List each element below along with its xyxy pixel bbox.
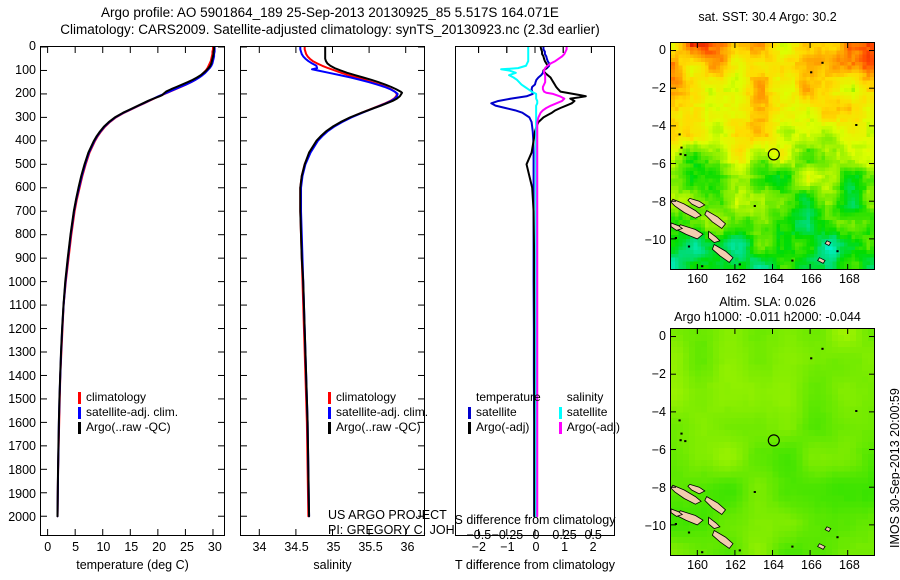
axis-tick-label: 500 (0, 157, 36, 171)
axis-tick-label: 100 (0, 63, 36, 77)
sst-map (671, 43, 874, 269)
map-axis-tick-label: −8 (636, 481, 666, 495)
legend-color-swatch (468, 422, 471, 434)
legend-header-label: salinity (567, 390, 604, 405)
legend-column-header: temperature (468, 390, 541, 405)
legend-item: satellite (468, 405, 541, 420)
imos-timestamp: IMOS 30-Sep-2013 20:00:59 (888, 388, 900, 548)
legend-color-swatch (78, 422, 81, 434)
title-line-2: Climatology: CARS2009. Satellite-adjuste… (0, 21, 660, 38)
legend-spacer (559, 392, 562, 404)
legend-item: Argo(..raw -QC) (78, 420, 178, 435)
axis-tick-label: 1200 (0, 322, 36, 336)
map-axis-tick-label: −4 (636, 405, 666, 419)
axis-tick-label: 2 (568, 540, 618, 554)
map-axis-tick-label: −2 (636, 367, 666, 381)
legend-column-header: salinity (559, 390, 620, 405)
axis-tick-label: 900 (0, 251, 36, 265)
legend-label: satellite (567, 405, 608, 420)
legend-color-swatch (78, 407, 81, 419)
salinity-legend: climatologysatellite-adj. clim.Argo(..ra… (328, 390, 428, 435)
map-axis-tick-label: −2 (636, 81, 666, 95)
temperature-axis-label: temperature (deg C) (40, 558, 225, 572)
axis-tick-label: 1500 (0, 392, 36, 406)
difference-legend-salinity-column: salinity satelliteArgo(-adj) (559, 390, 620, 435)
axis-tick-label: 800 (0, 227, 36, 241)
axis-tick-label: 2000 (0, 510, 36, 524)
title-line-1: Argo profile: AO 5901864_189 25-Sep-2013… (0, 4, 660, 21)
page-title: Argo profile: AO 5901864_189 25-Sep-2013… (0, 4, 660, 38)
salinity-difference-axis-label: S difference from climatology (440, 513, 630, 527)
axis-tick-label: 0.5 (568, 528, 618, 542)
axis-tick-label: 200 (0, 86, 36, 100)
legend-color-swatch (78, 392, 81, 404)
axis-tick-label: 36 (383, 540, 433, 554)
sla-map-panel (670, 328, 875, 556)
temperature-legend: climatologysatellite-adj. clim.Argo(..ra… (78, 390, 178, 435)
difference-legend-temperature-column: temperature satelliteArgo(-adj) (468, 390, 541, 435)
legend-color-swatch (468, 407, 471, 419)
map-axis-tick-label: −6 (636, 443, 666, 457)
axis-tick-label: 300 (0, 110, 36, 124)
legend-label: satellite-adj. clim. (86, 405, 178, 420)
axis-tick-label: 600 (0, 180, 36, 194)
sla-map (671, 329, 874, 555)
legend-item: satellite-adj. clim. (78, 405, 178, 420)
legend-label: satellite-adj. clim. (336, 405, 428, 420)
legend-spacer (468, 392, 471, 404)
sla-title-line-1: Altim. SLA: 0.026 (645, 295, 890, 310)
map-axis-tick-label: 168 (824, 272, 874, 286)
map-axis-tick-label: −10 (636, 233, 666, 247)
axis-tick-label: 1400 (0, 369, 36, 383)
legend-label: Argo(-adj) (567, 420, 620, 435)
axis-tick-label: 30 (190, 540, 240, 554)
legend-label: Argo(-adj) (476, 420, 529, 435)
legend-color-swatch (328, 392, 331, 404)
difference-legend: temperature satelliteArgo(-adj) salinity… (468, 390, 620, 435)
legend-label: climatology (86, 390, 146, 405)
axis-tick-label: 1600 (0, 416, 36, 430)
map-axis-tick-label: 0 (636, 43, 666, 57)
legend-header-label: temperature (476, 390, 541, 405)
legend-item: Argo(-adj) (559, 420, 620, 435)
axis-tick-label: 1000 (0, 275, 36, 289)
legend-color-swatch (328, 407, 331, 419)
legend-color-swatch (559, 422, 562, 434)
temperature-profile-plot (41, 47, 224, 535)
legend-label: climatology (336, 390, 396, 405)
sla-title-line-2: Argo h1000: -0.011 h2000: -0.044 (645, 310, 890, 325)
axis-tick-label: 0 (0, 39, 36, 53)
map-axis-tick-label: −10 (636, 519, 666, 533)
map-axis-tick-label: −4 (636, 119, 666, 133)
temperature-difference-axis-label: T difference from climatology (440, 558, 630, 572)
axis-tick-label: 1300 (0, 345, 36, 359)
map-axis-tick-label: 168 (824, 558, 874, 572)
sst-map-title: sat. SST: 30.4 Argo: 30.2 (645, 10, 890, 25)
axis-tick-label: 400 (0, 133, 36, 147)
legend-item: satellite-adj. clim. (328, 405, 428, 420)
salinity-profile-panel (240, 46, 425, 536)
salinity-axis-label: salinity (240, 558, 425, 572)
temperature-profile-panel (40, 46, 225, 536)
map-axis-tick-label: −8 (636, 195, 666, 209)
axis-tick-label: 1800 (0, 463, 36, 477)
salinity-profile-plot (241, 47, 424, 535)
legend-color-swatch (328, 422, 331, 434)
axis-tick-label: 700 (0, 204, 36, 218)
legend-item: Argo(..raw -QC) (328, 420, 428, 435)
legend-item: Argo(-adj) (468, 420, 541, 435)
legend-label: Argo(..raw -QC) (336, 420, 421, 435)
legend-item: climatology (78, 390, 178, 405)
sla-map-title: Altim. SLA: 0.026 Argo h1000: -0.011 h20… (645, 295, 890, 325)
map-axis-tick-label: 0 (636, 329, 666, 343)
legend-item: climatology (328, 390, 428, 405)
legend-item: satellite (559, 405, 620, 420)
legend-color-swatch (559, 407, 562, 419)
axis-tick-label: 1700 (0, 439, 36, 453)
map-axis-tick-label: −6 (636, 157, 666, 171)
axis-tick-label: 1100 (0, 298, 36, 312)
difference-profile-panel (455, 46, 615, 536)
legend-label: Argo(..raw -QC) (86, 420, 171, 435)
legend-label: satellite (476, 405, 517, 420)
axis-tick-label: 1900 (0, 487, 36, 501)
difference-profile-plot (456, 47, 614, 535)
sst-map-panel (670, 42, 875, 270)
